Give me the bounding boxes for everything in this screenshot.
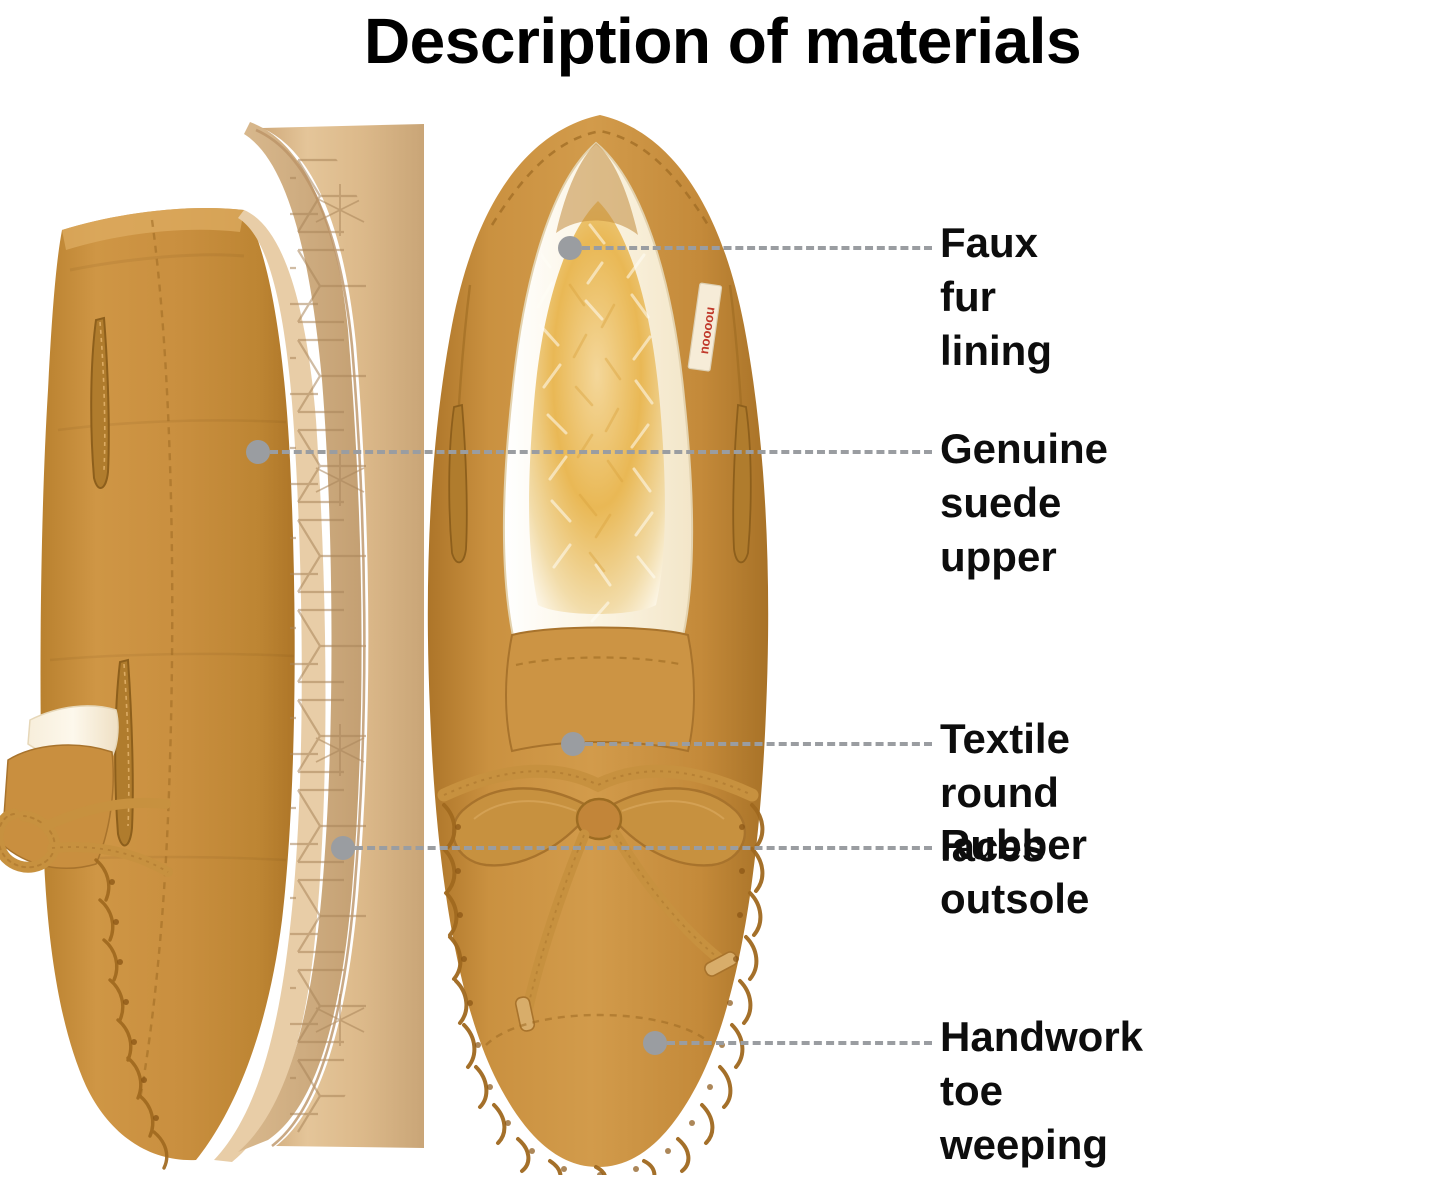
callout-label-rubber-outsole: Rubber outsole: [940, 818, 1089, 926]
callout-leader-rubber-outsole: [355, 846, 932, 850]
callout-leader-textile-round-laces: [585, 742, 932, 746]
callout-dot-textile-round-laces[interactable]: [561, 732, 585, 756]
callout-leader-genuine-suede-upper: [270, 450, 932, 454]
callout-label-faux-fur-lining: Faux fur lining: [940, 216, 1052, 378]
product-image-stage: noooou: [0, 0, 1445, 1180]
vamp-panel: [506, 628, 694, 752]
callout-dot-faux-fur-lining[interactable]: [558, 236, 582, 260]
callout-label-handwork-toe-weeping: Handwork toe weeping: [940, 1010, 1143, 1172]
callout-dot-handwork-toe-weeping[interactable]: [643, 1031, 667, 1055]
callout-label-genuine-suede-upper: Genuine suede upper: [940, 422, 1108, 584]
callout-dot-rubber-outsole[interactable]: [331, 836, 355, 860]
shoe-top-view: noooou: [400, 105, 800, 1175]
callout-leader-handwork-toe-weeping: [667, 1041, 932, 1045]
callout-dot-genuine-suede-upper[interactable]: [246, 440, 270, 464]
suede-upper-body: [41, 208, 295, 1160]
shoe-side-sole-view: [0, 100, 430, 1180]
callout-leader-faux-fur-lining: [582, 246, 932, 250]
